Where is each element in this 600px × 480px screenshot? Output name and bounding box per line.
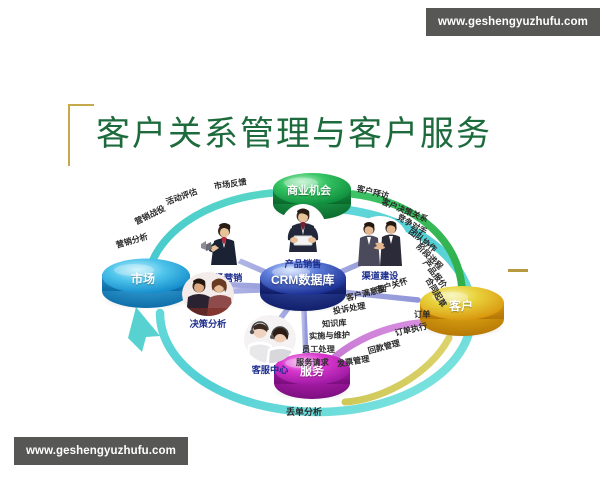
arc-label-lost-order-analysis: 丢单分析 xyxy=(286,405,322,418)
man-and-woman-meeting-photo xyxy=(182,272,234,316)
title-bracket-ornament xyxy=(68,104,94,166)
arc-label-implementation-maintenance: 实施与维护 xyxy=(309,329,350,342)
sub-label-callcenter: 客服中心 xyxy=(241,362,299,376)
sub-label-decision: 决策分析 xyxy=(179,316,237,330)
accent-dash-right xyxy=(508,269,528,272)
page-root: www.geshengyuzhufu.com 客户关系管理与客户服务 xyxy=(0,0,600,480)
diagram-canvas xyxy=(0,160,600,430)
arc-label-service-request: 服务请求 xyxy=(296,356,329,368)
sub-label-product-sales: 产品销售 xyxy=(276,256,330,270)
node-market[interactable] xyxy=(100,259,192,311)
cycle-arrow-icon xyxy=(128,307,160,352)
watermark-bottom: www.geshengyuzhufu.com xyxy=(14,437,188,465)
node-label-crm: CRM数据库 xyxy=(271,271,334,288)
arc-label-employee-handling: 员工处理 xyxy=(302,343,335,355)
page-title: 客户关系管理与客户服务 xyxy=(68,104,512,166)
businessman-megaphone-photo xyxy=(201,219,245,269)
businessman-document-photo xyxy=(280,204,326,254)
crm-lifecycle-diagram: 市场 商业机会 客户 服务 CRM数据库 市场营销 xyxy=(0,160,600,430)
title-text: 客户关系管理与客户服务 xyxy=(96,106,492,162)
arc-label-order: 订单 xyxy=(414,308,430,320)
watermark-top: www.geshengyuzhufu.com xyxy=(426,8,600,36)
headset-agents-photo xyxy=(244,315,296,363)
